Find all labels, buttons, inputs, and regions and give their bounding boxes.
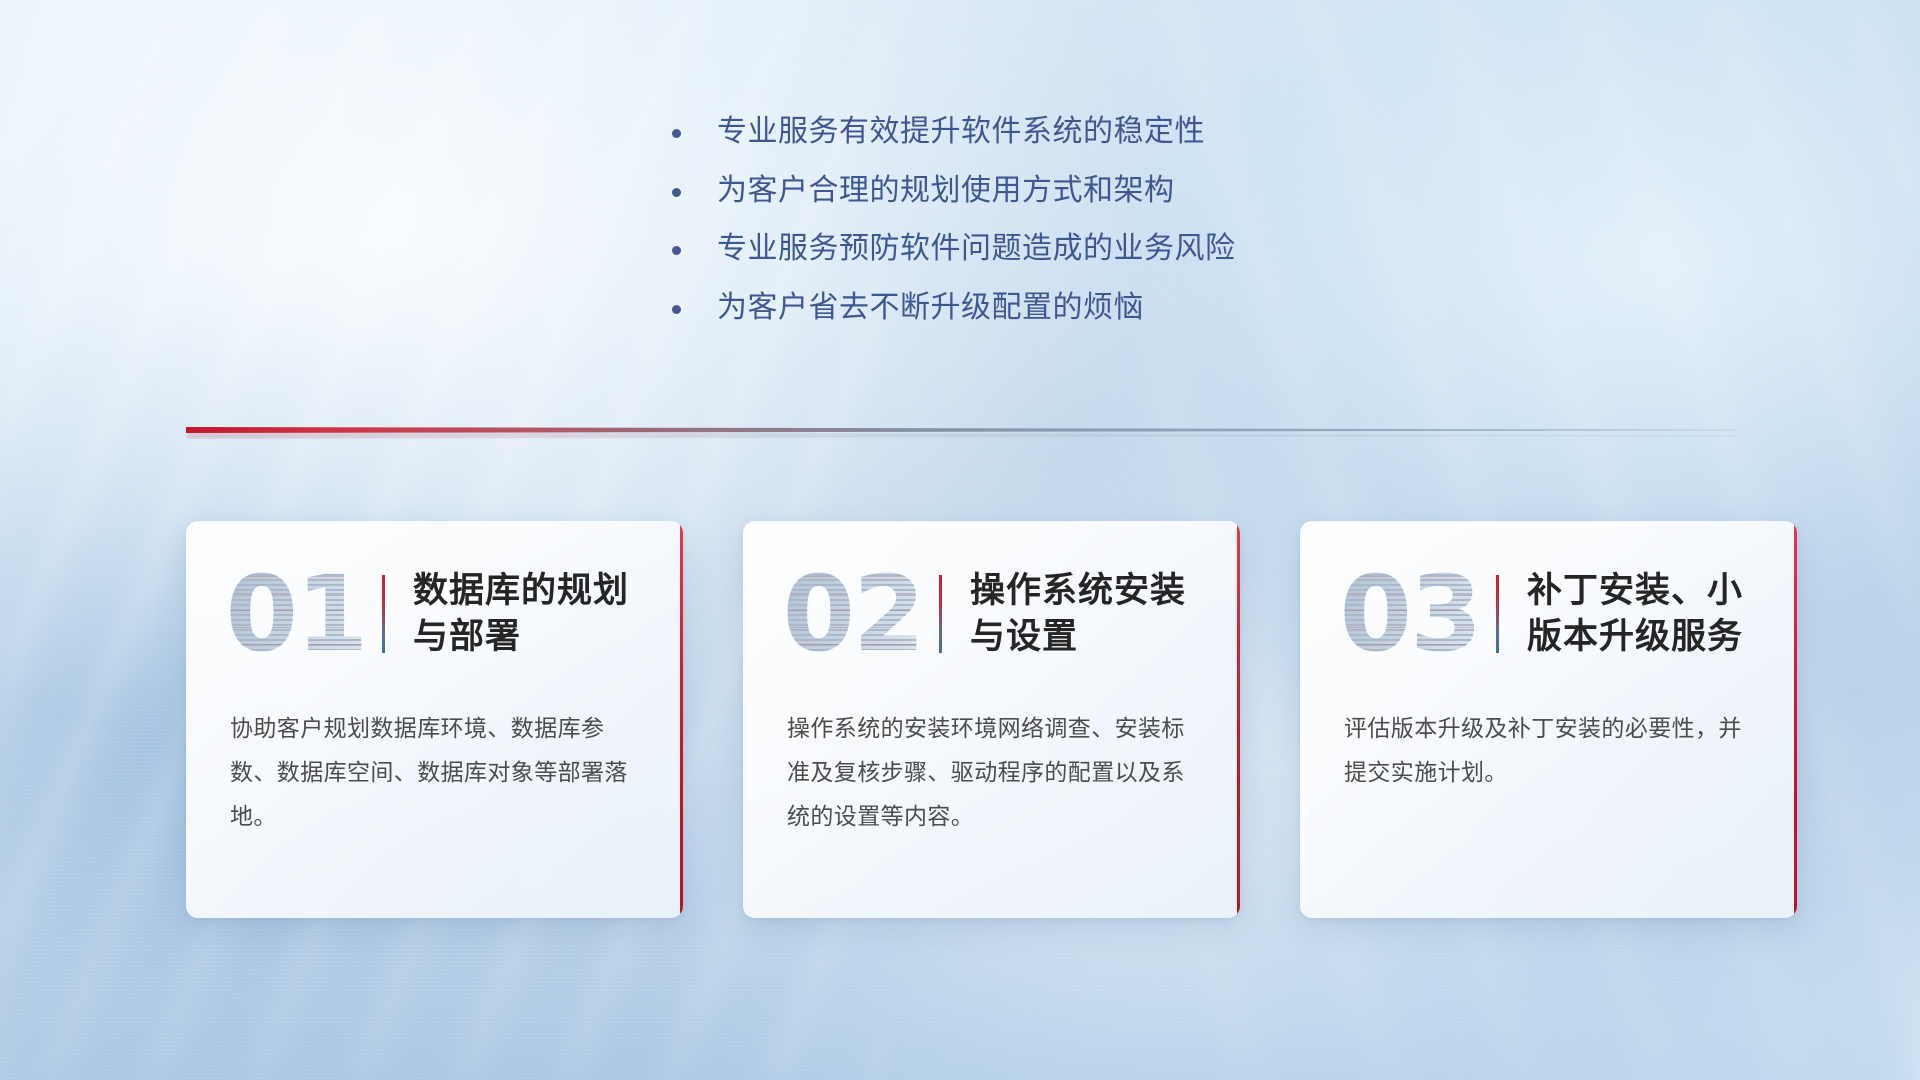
card-number-tint: 02 (777, 559, 929, 669)
bullet-dot-icon (672, 188, 681, 197)
benefits-bullet-list: 专业服务有效提升软件系统的稳定性 为客户合理的规划使用方式和架构 专业服务预防软… (672, 112, 1572, 346)
card-header: 03 03 补丁安装、小 版本升级服务 (1300, 521, 1797, 706)
service-card-03[interactable]: 03 03 补丁安装、小 版本升级服务 评估版本升级及补丁安装的必要性，并提交实… (1300, 521, 1797, 918)
bullet-dot-icon (672, 305, 681, 314)
card-body-text: 操作系统的安装环境网络调查、安装标准及复核步骤、驱动程序的配置以及系统的设置等内… (787, 706, 1196, 838)
bullet-label: 为客户省去不断升级配置的烦恼 (717, 288, 1144, 328)
service-card-list: 01 01 数据库的规划 与部署 协助客户规划数据库环境、数据库参数、数据库空间… (186, 521, 1797, 918)
card-body-text: 评估版本升级及补丁安装的必要性，并提交实施计划。 (1344, 706, 1753, 794)
card-accent-bar (382, 575, 385, 653)
card-title: 补丁安装、小 版本升级服务 (1527, 568, 1743, 659)
bullet-dot-icon (672, 129, 681, 138)
slide-root: 专业服务有效提升软件系统的稳定性 为客户合理的规划使用方式和架构 专业服务预防软… (0, 0, 1920, 1080)
bullet-item: 专业服务有效提升软件系统的稳定性 (672, 112, 1572, 152)
card-title: 操作系统安装 与设置 (970, 568, 1186, 659)
card-number-01: 01 01 (220, 559, 372, 669)
card-number-02: 02 02 (777, 559, 929, 669)
divider-shadow (186, 432, 1738, 439)
bullet-label: 专业服务有效提升软件系统的稳定性 (717, 112, 1205, 152)
bullet-dot-icon (672, 246, 681, 255)
card-accent-bar (1496, 575, 1499, 653)
card-header: 01 01 数据库的规划 与部署 (186, 521, 683, 706)
card-number-tint: 03 (1334, 559, 1486, 669)
section-divider (186, 424, 1738, 442)
card-body-text: 协助客户规划数据库环境、数据库参数、数据库空间、数据库对象等部署落地。 (230, 706, 639, 838)
card-accent-bar (939, 575, 942, 653)
bullet-label: 为客户合理的规划使用方式和架构 (717, 171, 1175, 211)
card-number-03: 03 03 (1334, 559, 1486, 669)
bullet-item: 为客户省去不断升级配置的烦恼 (672, 288, 1572, 328)
card-header: 02 02 操作系统安装 与设置 (743, 521, 1240, 706)
service-card-01[interactable]: 01 01 数据库的规划 与部署 协助客户规划数据库环境、数据库参数、数据库空间… (186, 521, 683, 918)
card-title: 数据库的规划 与部署 (413, 568, 629, 659)
service-card-02[interactable]: 02 02 操作系统安装 与设置 操作系统的安装环境网络调查、安装标准及复核步骤… (743, 521, 1240, 918)
divider-line (186, 427, 1738, 433)
bullet-item: 专业服务预防软件问题造成的业务风险 (672, 229, 1572, 269)
bullet-label: 专业服务预防软件问题造成的业务风险 (717, 229, 1236, 269)
bullet-item: 为客户合理的规划使用方式和架构 (672, 171, 1572, 211)
card-number-tint: 01 (220, 559, 372, 669)
